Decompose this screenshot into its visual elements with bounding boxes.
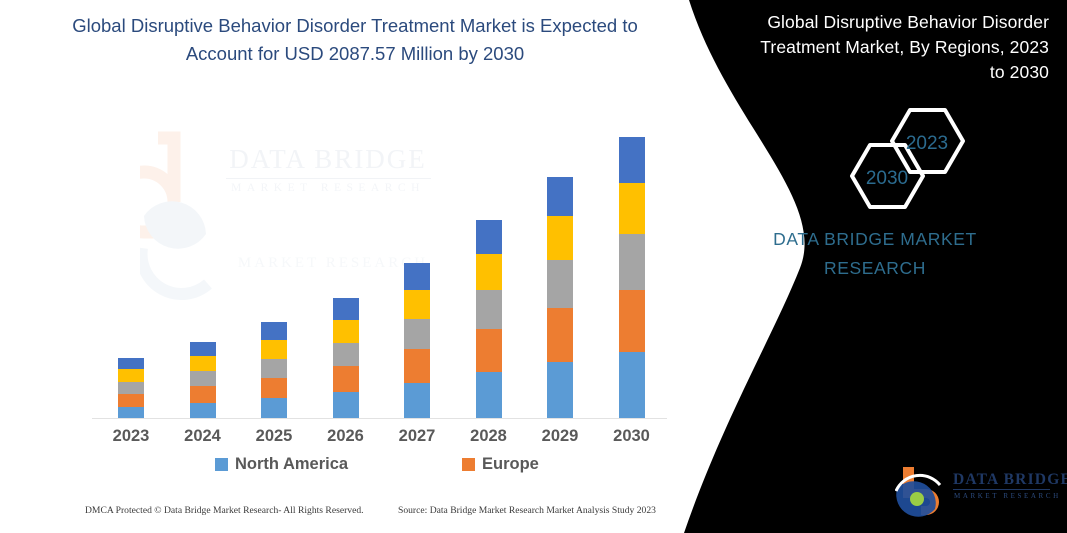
x-axis-label-2024: 2024 [167, 427, 238, 446]
green-side-panel: Global Disruptive Behavior Disorder Trea… [667, 0, 1067, 533]
bar-2029 [547, 177, 573, 419]
bar-segment [547, 362, 573, 419]
legend-swatch-icon [215, 458, 228, 471]
legend-item-europe[interactable]: Europe [462, 455, 539, 474]
bar-segment [333, 320, 359, 343]
bar-2023 [118, 358, 144, 419]
bar-2030 [619, 137, 645, 419]
chart-legend: North AmericaEurope [92, 455, 667, 481]
bar-segment [404, 290, 430, 319]
panel-brand-line1: DATA BRIDGE MARKET [735, 225, 1015, 254]
footer-copyright: DMCA Protected © Data Bridge Market Rese… [85, 505, 364, 516]
bar-segment [547, 260, 573, 308]
bar-2028 [476, 220, 502, 419]
bar-segment [476, 372, 502, 419]
bar-segment [619, 290, 645, 352]
x-axis-labels: 20232024202520262027202820292030 [92, 427, 667, 451]
bar-segment [404, 319, 430, 350]
bar-2026 [333, 298, 359, 419]
dbmr-logo-name: DATA BRIDGE [953, 471, 1067, 489]
footer: DMCA Protected © Data Bridge Market Rese… [0, 505, 700, 527]
hexagons-icon: 2023 2030 [820, 105, 1020, 215]
bar-segment [261, 322, 287, 340]
page-title: Global Disruptive Behavior Disorder Trea… [60, 12, 650, 68]
bar-segment [476, 254, 502, 290]
bar-segment [619, 234, 645, 289]
chart-panel: Global Disruptive Behavior Disorder Trea… [0, 0, 712, 533]
panel-brand: DATA BRIDGE MARKET RESEARCH [735, 225, 1015, 283]
dbmr-logo-icon [895, 465, 951, 517]
bar-segment [333, 392, 359, 419]
x-axis-line [92, 418, 667, 419]
bar-segment [118, 369, 144, 381]
panel-brand-line2: RESEARCH [735, 254, 1015, 283]
bar-segment [333, 343, 359, 367]
legend-label: Europe [482, 455, 539, 474]
bar-segment [404, 263, 430, 290]
bar-segment [476, 329, 502, 372]
bar-segment [261, 340, 287, 359]
infographic-canvas: Global Disruptive Behavior Disorder Trea… [0, 0, 1067, 533]
bar-segment [547, 216, 573, 260]
hexagon-2023-label: 2023 [906, 133, 948, 154]
dbmr-logo-tagline: MARKET RESEARCH [954, 492, 1061, 500]
bar-segment [476, 220, 502, 253]
stacked-bar-plot [92, 128, 667, 419]
bar-segment [619, 183, 645, 235]
bar-segment [190, 386, 216, 402]
bar-segment [261, 398, 287, 419]
bar-segment [619, 352, 645, 419]
x-axis-label-2027: 2027 [382, 427, 453, 446]
bar-segment [476, 290, 502, 329]
footer-source: Source: Data Bridge Market Research Mark… [398, 505, 656, 516]
hexagon-group: 2023 2030 [820, 105, 1020, 215]
bar-segment [190, 342, 216, 356]
dbmr-logo: DATA BRIDGE MARKET RESEARCH [895, 465, 1055, 517]
x-axis-label-2029: 2029 [525, 427, 596, 446]
x-axis-label-2026: 2026 [310, 427, 381, 446]
bar-segment [333, 366, 359, 392]
bar-segment [261, 378, 287, 398]
bar-segment [190, 371, 216, 386]
legend-label: North America [235, 455, 348, 474]
x-axis-label-2030: 2030 [596, 427, 667, 446]
panel-title: Global Disruptive Behavior Disorder Trea… [749, 10, 1049, 85]
bar-segment [619, 137, 645, 183]
bar-2024 [190, 342, 216, 419]
legend-swatch-icon [462, 458, 475, 471]
x-axis-label-2023: 2023 [96, 427, 167, 446]
bar-segment [118, 394, 144, 406]
bar-segment [118, 382, 144, 394]
bar-segment [404, 349, 430, 382]
x-axis-label-2025: 2025 [239, 427, 310, 446]
bar-segment [404, 383, 430, 419]
dbmr-logo-rule [953, 489, 1050, 490]
bar-segment [547, 177, 573, 216]
bar-segment [261, 359, 287, 378]
legend-item-north-america[interactable]: North America [215, 455, 348, 474]
bar-2027 [404, 263, 430, 419]
bar-segment [190, 356, 216, 371]
bar-segment [547, 308, 573, 362]
x-axis-label-2028: 2028 [453, 427, 524, 446]
bar-segment [333, 298, 359, 320]
hexagon-2030-label: 2030 [866, 168, 908, 189]
bar-segment [118, 358, 144, 369]
bar-2025 [261, 322, 287, 420]
bar-segment [190, 403, 216, 419]
